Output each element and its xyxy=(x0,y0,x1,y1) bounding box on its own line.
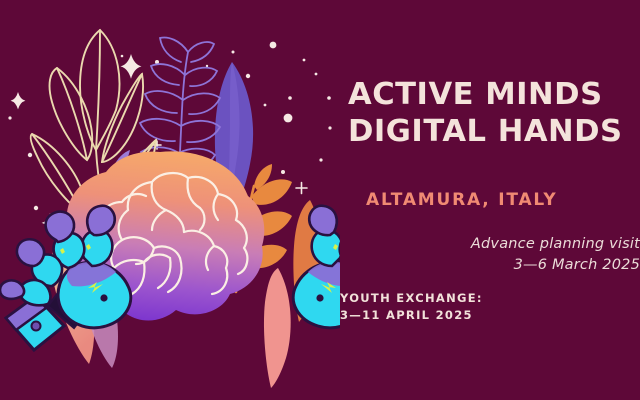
location-subtitle: ALTAMURA, ITALY xyxy=(366,190,558,210)
advance-planning-visit-dates: 3—6 March 2025 xyxy=(330,255,640,276)
text-column: ACTIVE MINDS DIGITAL HANDS ALTAMURA, ITA… xyxy=(330,0,640,400)
youth-exchange-label: YOUTH EXCHANGE: xyxy=(340,290,483,307)
advance-planning-visit-label: Advance planning visit xyxy=(330,234,640,255)
illustration-artwork xyxy=(0,0,340,400)
advance-planning-visit-block: Advance planning visit 3—6 March 2025 xyxy=(330,234,640,276)
title-line-2: DIGITAL HANDS xyxy=(348,113,640,150)
page-title: ACTIVE MINDS DIGITAL HANDS xyxy=(348,76,640,150)
title-line-1: ACTIVE MINDS xyxy=(348,77,603,112)
youth-exchange-dates: 3—11 APRIL 2025 xyxy=(340,307,483,324)
poster-canvas: ACTIVE MINDS DIGITAL HANDS ALTAMURA, ITA… xyxy=(0,0,640,400)
youth-exchange-block: YOUTH EXCHANGE: 3—11 APRIL 2025 xyxy=(340,290,483,324)
